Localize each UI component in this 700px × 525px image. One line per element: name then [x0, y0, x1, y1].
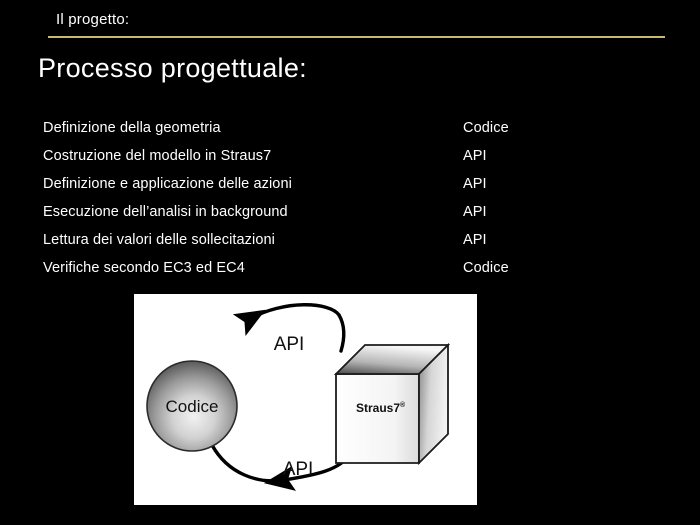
step-kind: API	[463, 174, 487, 194]
api-arrow-top	[248, 305, 339, 320]
architecture-diagram-panel: Codice Straus7® API API	[134, 294, 477, 505]
step-kind: API	[463, 230, 487, 250]
api-arrow-top-tail	[339, 315, 344, 351]
table-row: Esecuzione dell’analisi in background AP…	[43, 202, 603, 230]
gold-divider	[48, 36, 665, 38]
step-kind: Codice	[463, 118, 509, 138]
step-label: Definizione della geometria	[43, 118, 221, 138]
process-steps-table: Definizione della geometria Codice Costr…	[43, 118, 603, 286]
codice-sphere-label: Codice	[166, 397, 219, 416]
table-row: Verifiche secondo EC3 ed EC4 Codice	[43, 258, 603, 286]
step-label: Definizione e applicazione delle azioni	[43, 174, 292, 194]
step-label: Lettura dei valori delle sollecitazioni	[43, 230, 275, 250]
table-row: Costruzione del modello in Straus7 API	[43, 146, 603, 174]
api-label-top: API	[274, 334, 305, 355]
step-kind: API	[463, 202, 487, 222]
step-kind: API	[463, 146, 487, 166]
step-label: Costruzione del modello in Straus7	[43, 146, 271, 166]
page-title: Processo progettuale:	[38, 51, 307, 85]
header-kicker: Il progetto:	[48, 10, 665, 30]
slide-header: Il progetto:	[48, 10, 665, 38]
cube-label: Straus7®	[356, 401, 406, 415]
architecture-diagram: Codice Straus7® API API	[134, 294, 477, 505]
table-row: Definizione della geometria Codice	[43, 118, 603, 146]
step-kind: Codice	[463, 258, 509, 278]
table-row: Definizione e applicazione delle azioni …	[43, 174, 603, 202]
step-label: Esecuzione dell’analisi in background	[43, 202, 288, 222]
table-row: Lettura dei valori delle sollecitazioni …	[43, 230, 603, 258]
api-label-bottom: API	[283, 459, 314, 480]
api-arrow-bottom	[212, 445, 284, 481]
slide-canvas: Il progetto: Processo progettuale: Defin…	[0, 0, 700, 525]
step-label: Verifiche secondo EC3 ed EC4	[43, 258, 245, 278]
cube-front-face	[336, 374, 419, 463]
